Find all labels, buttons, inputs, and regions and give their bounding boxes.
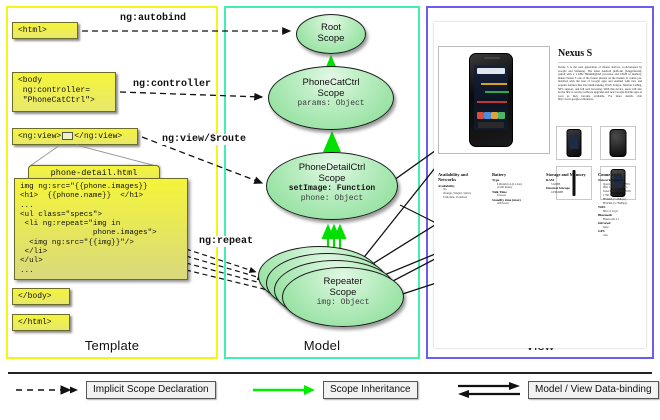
- legend: Implicit Scope Declaration Scope Inherit…: [8, 380, 652, 408]
- scope-repeater-attr-img: img: Object: [283, 298, 403, 308]
- scope-root-line1: Root: [321, 22, 341, 33]
- scope-phonedetailctrl-attr-phone: phone: Object: [267, 194, 397, 204]
- scope-root-line2: Scope: [318, 33, 345, 44]
- edge-label-ng-autobind: ng:autobind: [118, 13, 188, 24]
- tag-ngview-close: </ng:view>: [74, 132, 122, 141]
- phone-thumbnail[interactable]: [600, 126, 636, 160]
- spec-column: Connectivity Network Support Quad-band G…: [598, 172, 650, 237]
- callout-code: img ng:src="{{phone.images}} <h1> {{phon…: [14, 178, 188, 280]
- scope-phonedetailctrl-line1: PhoneDetailCtrl: [299, 162, 366, 173]
- solid-green-arrow-icon: [251, 380, 317, 400]
- phone-screen: [474, 65, 508, 130]
- spec-value: true: [598, 234, 650, 238]
- legend-item-model-view-data-binding: Model / View Data-binding: [456, 380, 659, 400]
- tag-ngview: <ng:view></ng:view>: [12, 128, 138, 145]
- scope-repeater-title: Repeater Scope: [283, 268, 403, 298]
- scope-root: Root Scope: [296, 14, 366, 54]
- phone-url-bar: [477, 68, 505, 74]
- scope-phonedetailctrl: PhoneDetailCtrl Scope setImage: Function…: [266, 152, 398, 220]
- legend-divider: [8, 372, 652, 374]
- legend-item-implicit-scope-declaration: Implicit Scope Declaration: [14, 380, 216, 400]
- phone-main-image: [469, 53, 513, 147]
- spec-column: Availability and Networks Availability 3…: [438, 172, 484, 199]
- legend-label: Implicit Scope Declaration: [86, 381, 216, 399]
- scope-phonedetailctrl-line2: Scope: [319, 173, 346, 184]
- scope-repeater-line2: Scope: [330, 287, 357, 298]
- diagram-canvas: Template Model View: [0, 0, 660, 420]
- phone-thumbnail[interactable]: [556, 126, 592, 160]
- legend-item-scope-inheritance: Scope Inheritance: [251, 380, 418, 400]
- heading-divider: [558, 62, 642, 63]
- phone-dock: [478, 122, 504, 128]
- scope-phonedetailctrl-attr-setimage: setImage: Function: [267, 184, 397, 194]
- spec-value: 16384MB: [546, 191, 592, 195]
- phone-screen-line-2: [485, 91, 509, 93]
- legend-label: Scope Inheritance: [323, 381, 418, 399]
- scope-phonedetailctrl-title: PhoneDetailCtrl Scope: [267, 153, 397, 184]
- scope-repeater-line1: Repeater: [323, 276, 362, 287]
- spec-column-header: Battery: [492, 172, 538, 177]
- phone-main-image-frame: [438, 46, 550, 154]
- spec-column-header: Connectivity: [598, 172, 650, 177]
- phone-screen-line-3: [477, 101, 507, 103]
- spec-column: Battery Type Lithium Ion (Li-Ion) (1500 …: [492, 172, 538, 206]
- rendered-view-page: Nexus S Nexus S is the next generation o…: [434, 22, 646, 348]
- thumb-front-icon: [567, 129, 582, 157]
- phone-app-icons: [477, 112, 505, 120]
- tag-html-close: </html>: [12, 314, 70, 331]
- scope-repeater: Repeater Scope img: Object: [282, 267, 404, 327]
- spec-value: 428 hours: [492, 202, 538, 206]
- ngview-placeholder-box: [62, 132, 73, 140]
- tag-html-open: <html>: [12, 22, 78, 39]
- scope-phonecatctrl-line2: Scope: [318, 88, 345, 99]
- phone-name-heading: Nexus S: [558, 48, 592, 59]
- dashed-arrow-icon: [14, 380, 80, 400]
- section-label-model: Model: [226, 338, 418, 353]
- tag-body-close: </body>: [12, 288, 70, 305]
- edge-label-ng-controller: ng:controller: [131, 79, 213, 90]
- scope-root-title: Root Scope: [297, 15, 365, 44]
- spec-column-header: Storage and Memory: [546, 172, 592, 177]
- phone-description: Nexus S is the next generation of Nexus …: [558, 66, 642, 122]
- double-arrow-icon: [456, 380, 522, 400]
- phone-speaker: [484, 57, 500, 59]
- spec-column-header: Availability and Networks: [438, 172, 484, 183]
- scope-phonecatctrl-title: PhoneCatCtrl Scope: [269, 67, 393, 99]
- scope-phonecatctrl-line1: PhoneCatCtrl: [302, 77, 359, 88]
- scope-phonecatctrl: PhoneCatCtrl Scope params: Object: [268, 66, 394, 130]
- edge-label-ng-view-route: ng:view/$route: [160, 134, 248, 145]
- tag-body-open: <body ng:controller= "PhoneCatCtrl">: [12, 72, 116, 112]
- phone-screen-line-1: [481, 83, 507, 85]
- tag-ngview-open: <ng:view>: [18, 132, 61, 141]
- section-label-template: Template: [8, 338, 216, 353]
- scope-phonecatctrl-attr-params: params: Object: [269, 99, 393, 109]
- legend-label: Model / View Data-binding: [528, 381, 659, 399]
- edge-label-ng-repeat: ng:repeat: [197, 236, 255, 247]
- spec-column: Storage and Memory RAM 512MB Internal St…: [546, 172, 592, 194]
- spec-value: T-Mobile, Vodafone: [438, 196, 484, 200]
- thumb-back-icon: [610, 129, 627, 157]
